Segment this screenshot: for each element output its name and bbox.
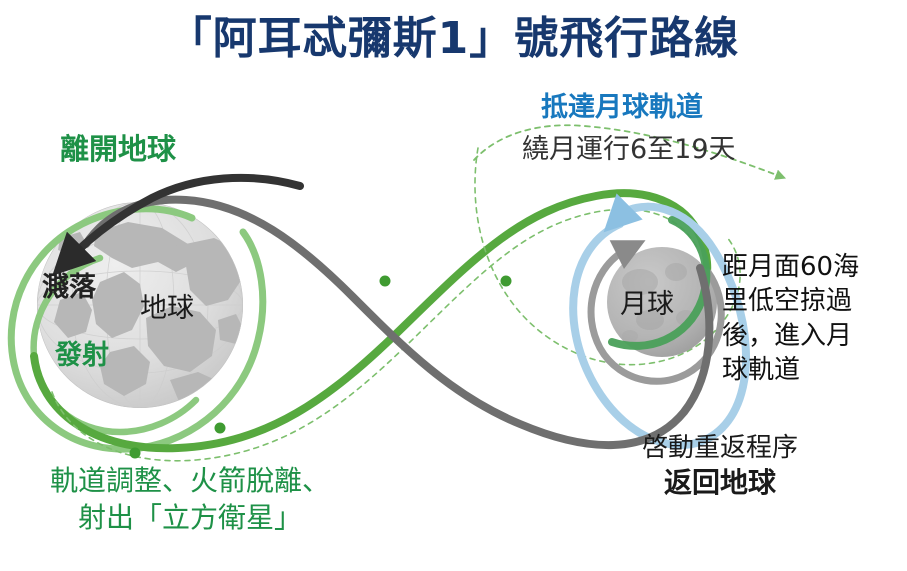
label-orbit-days: 繞月運行6至19天 <box>522 134 736 166</box>
label-earth: 地球 <box>140 293 194 325</box>
orbit-adjust-line-2: 射出「立方衛星」 <box>0 499 380 536</box>
flyby-line-4: 球軌道 <box>722 353 898 387</box>
label-lunar-flyby: 距月面60海 里低空掠過 後，進入月 球軌道 <box>722 250 898 387</box>
label-moon: 月球 <box>620 289 674 321</box>
flyby-line-1: 距月面60海 <box>722 250 898 284</box>
label-return-earth: 返回地球 <box>580 465 860 501</box>
label-launch: 發射 <box>55 340 109 372</box>
label-reentry-block: 啓動重返程序 返回地球 <box>580 432 860 501</box>
flyby-line-3: 後，進入月 <box>722 319 898 353</box>
label-arrive-moon-orbit: 抵達月球軌道 <box>541 92 703 124</box>
label-leave-earth: 離開地球 <box>60 132 176 166</box>
label-reentry: 啓動重返程序 <box>580 432 860 465</box>
waypoint-dot <box>215 423 226 434</box>
waypoint-dot <box>130 448 141 459</box>
waypoint-dot <box>501 276 512 287</box>
label-splashdown: 濺落 <box>42 272 96 304</box>
orbit-adjust-line-1: 軌道調整、火箭脫離、 <box>0 462 380 499</box>
label-orbit-adjust: 軌道調整、火箭脫離、 射出「立方衛星」 <box>0 462 380 536</box>
infographic-canvas: 「阿耳忒彌斯1」號飛行路線 <box>0 0 907 571</box>
waypoint-dot <box>380 276 391 287</box>
flyby-line-2: 里低空掠過 <box>722 284 898 318</box>
